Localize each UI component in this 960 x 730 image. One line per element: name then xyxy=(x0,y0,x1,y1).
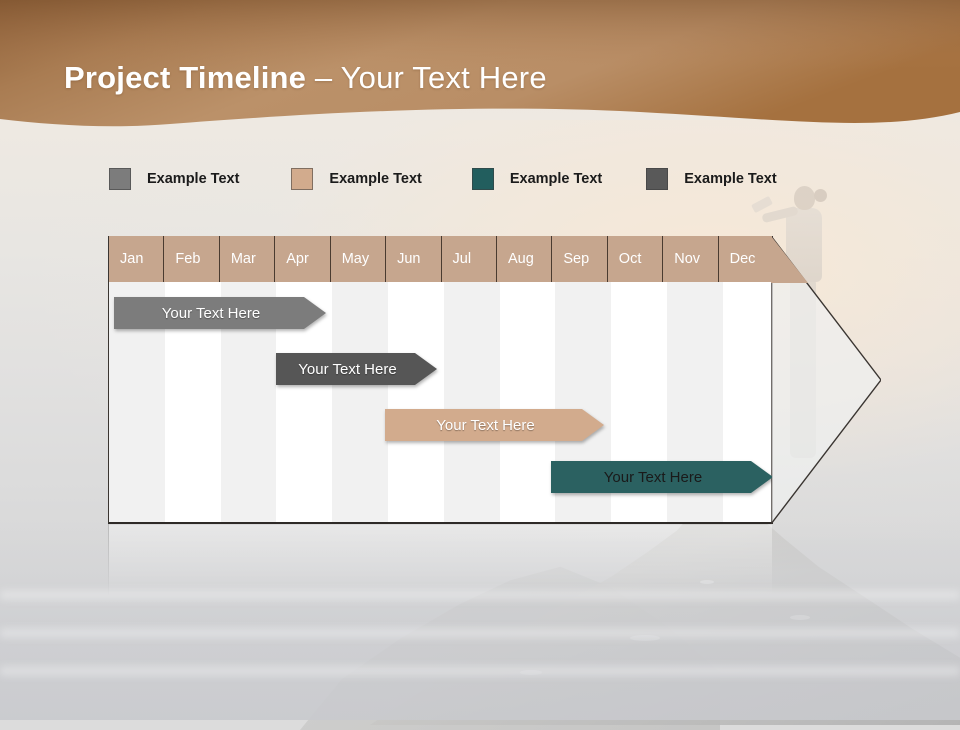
month-cell-sep: Sep xyxy=(552,236,607,282)
legend-item-1[interactable]: Example Text xyxy=(109,168,239,190)
legend-swatch-darkgray xyxy=(646,168,668,190)
month-cell-jan: Jan xyxy=(109,236,164,282)
month-cell-jul: Jul xyxy=(442,236,497,282)
task-bar-2[interactable]: Your Text Here xyxy=(276,353,437,385)
task-bar-3-label: Your Text Here xyxy=(385,417,604,434)
legend-item-3[interactable]: Example Text xyxy=(472,168,602,190)
timeline-month-header: Jan Feb Mar Apr May Jun Jul Aug Sep Oct … xyxy=(109,236,773,282)
legend-swatch-gray xyxy=(109,168,131,190)
chart-reflection-line xyxy=(108,524,109,596)
month-cell-may: May xyxy=(331,236,386,282)
task-bar-2-label: Your Text Here xyxy=(276,361,437,378)
legend-label-1: Example Text xyxy=(147,171,239,187)
task-bar-3[interactable]: Your Text Here xyxy=(385,409,604,441)
legend-swatch-teal xyxy=(472,168,494,190)
page-title: Project Timeline – Your Text Here xyxy=(64,60,547,96)
timeline-grid: Jan Feb Mar Apr May Jun Jul Aug Sep Oct … xyxy=(108,236,773,524)
month-cell-nov: Nov xyxy=(663,236,718,282)
month-cell-apr: Apr xyxy=(275,236,330,282)
task-bar-1-label: Your Text Here xyxy=(114,305,326,322)
legend-label-4: Example Text xyxy=(684,171,776,187)
legend-label-3: Example Text xyxy=(510,171,602,187)
legend: Example Text Example Text Example Text E… xyxy=(109,168,777,190)
month-cell-mar: Mar xyxy=(220,236,275,282)
task-bar-4-label: Your Text Here xyxy=(551,469,773,486)
arrow-head-header-tan xyxy=(771,236,811,283)
month-cell-dec: Dec xyxy=(719,236,773,282)
legend-swatch-tan xyxy=(291,168,313,190)
month-cell-jun: Jun xyxy=(386,236,441,282)
month-cell-oct: Oct xyxy=(608,236,663,282)
legend-item-4[interactable]: Example Text xyxy=(646,168,776,190)
task-bar-4[interactable]: Your Text Here xyxy=(551,461,773,493)
page-title-rest: – Your Text Here xyxy=(306,60,547,95)
legend-label-2: Example Text xyxy=(329,171,421,187)
timeline-chart: Jan Feb Mar Apr May Jun Jul Aug Sep Oct … xyxy=(108,236,880,526)
month-cell-aug: Aug xyxy=(497,236,552,282)
task-bar-1[interactable]: Your Text Here xyxy=(114,297,326,329)
legend-item-2[interactable]: Example Text xyxy=(291,168,421,190)
page-title-strong: Project Timeline xyxy=(64,60,306,95)
month-cell-feb: Feb xyxy=(164,236,219,282)
chart-reflection-panel xyxy=(109,525,772,597)
